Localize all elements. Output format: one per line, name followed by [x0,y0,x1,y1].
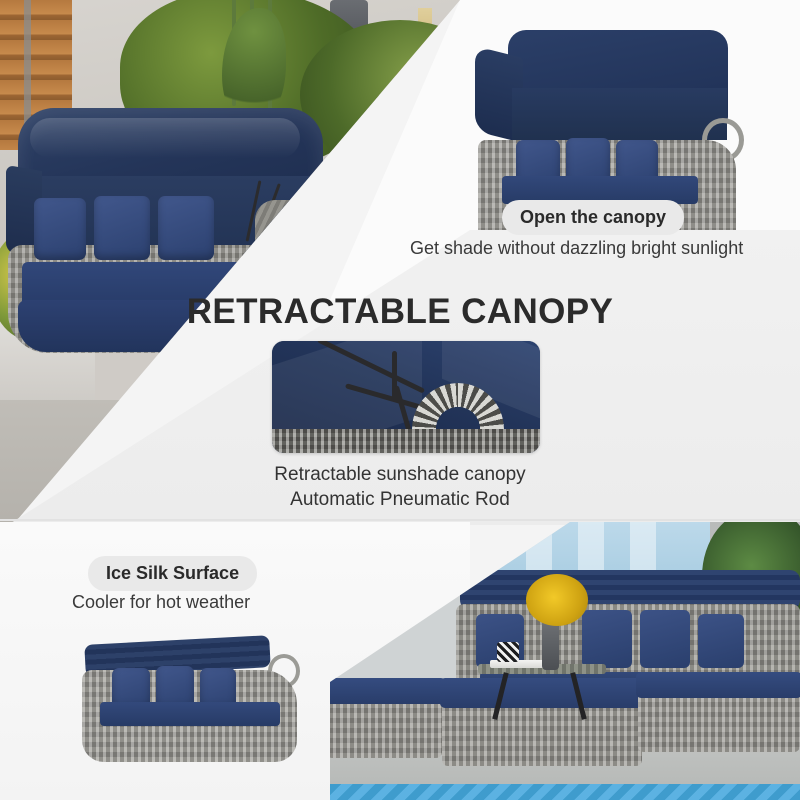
ottoman-center-cushion [440,678,646,708]
ottoman-right [638,690,800,752]
daybed-armrest [255,200,317,258]
caption-line-2: Automatic Pneumatic Rod [0,487,800,512]
ottoman-right-cushion [636,672,800,698]
throw-pillow [640,610,690,668]
seat-cushion [100,702,280,726]
pool-water [330,784,800,800]
ottoman-left-cushion [330,678,446,704]
throw-pillow [94,196,150,260]
ottoman-center [442,698,642,766]
checkered-cup [497,642,519,662]
section-divider [0,519,800,521]
throw-pillow [698,614,744,668]
canopy-highlight [30,118,300,158]
throw-pillow [582,610,632,668]
pneumatic-rod-closeup [272,341,540,453]
throw-pillow [34,198,86,260]
badge-ice-silk-surface: Ice Silk Surface [88,556,257,591]
yellow-flowers [526,574,588,626]
subtitle-open-the-canopy: Get shade without dazzling bright sunlig… [410,238,743,259]
center-caption: Retractable sunshade canopy Automatic Pn… [0,462,800,512]
subtitle-ice-silk-surface: Cooler for hot weather [72,592,250,613]
flower-vase [542,620,559,670]
render-canopy-back [512,88,727,140]
page-title: RETRACTABLE CANOPY [0,292,800,332]
caption-line-1: Retractable sunshade canopy [0,462,800,487]
marketing-infographic: RETRACTABLE CANOPY Retractable sunshade … [0,0,800,800]
badge-open-the-canopy: Open the canopy [502,200,684,235]
rattan-weave-edge [272,429,540,453]
throw-pillow [158,196,214,260]
